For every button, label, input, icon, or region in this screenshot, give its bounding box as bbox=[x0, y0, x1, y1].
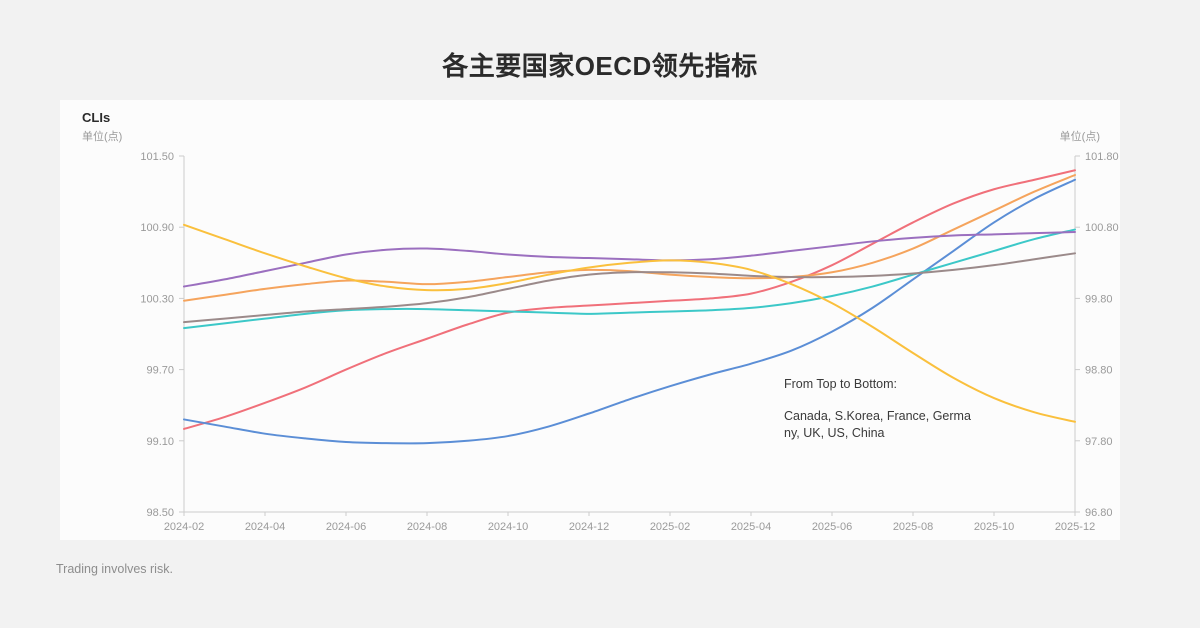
series-order-annotation: From Top to Bottom: Canada, S.Korea, Fra… bbox=[784, 376, 999, 441]
x-axis-tick-label: 2024-06 bbox=[326, 521, 366, 533]
right-axis-tick-label: 98.80 bbox=[1085, 365, 1113, 377]
x-axis-tick-label: 2025-08 bbox=[893, 521, 933, 533]
right-axis-tick-label: 101.80 bbox=[1085, 151, 1119, 163]
x-axis-tick-label: 2024-08 bbox=[407, 521, 447, 533]
annotation-heading: From Top to Bottom: bbox=[784, 376, 999, 392]
left-axis-tick-label: 99.70 bbox=[146, 365, 174, 377]
line-chart: 101.50100.90100.3099.7099.1098.50101.801… bbox=[60, 100, 1120, 540]
x-axis-tick-label: 2024-10 bbox=[488, 521, 528, 533]
disclaimer-text: Trading involves risk. bbox=[56, 562, 173, 576]
left-axis-tick-label: 101.50 bbox=[140, 151, 174, 163]
right-axis-tick-label: 97.80 bbox=[1085, 436, 1113, 448]
left-axis-tick-label: 98.50 bbox=[146, 507, 174, 519]
annotation-body-line-2: ny, UK, US, China bbox=[784, 425, 999, 441]
x-axis-tick-label: 2025-06 bbox=[812, 521, 852, 533]
x-axis-tick-label: 2024-12 bbox=[569, 521, 609, 533]
series-line-s-korea bbox=[184, 175, 1075, 301]
x-axis-tick-label: 2025-12 bbox=[1055, 521, 1095, 533]
right-axis-tick-label: 100.80 bbox=[1085, 222, 1119, 234]
x-axis-tick-label: 2024-04 bbox=[245, 521, 285, 533]
right-axis-tick-label: 96.80 bbox=[1085, 507, 1113, 519]
left-axis-tick-label: 100.30 bbox=[140, 293, 174, 305]
page-root: 各主要国家OECD领先指标 CLIs 单位(点) 单位(点) 101.50100… bbox=[0, 0, 1200, 628]
left-axis-tick-label: 99.10 bbox=[146, 436, 174, 448]
left-axis-tick-label: 100.90 bbox=[140, 222, 174, 234]
chart-card: CLIs 单位(点) 单位(点) 101.50100.90100.3099.70… bbox=[60, 100, 1120, 540]
x-axis-tick-label: 2025-04 bbox=[731, 521, 771, 533]
series-line-germany bbox=[184, 230, 1075, 329]
x-axis-tick-label: 2025-02 bbox=[650, 521, 690, 533]
annotation-body-line-1: Canada, S.Korea, France, Germa bbox=[784, 408, 999, 424]
x-axis-tick-label: 2025-10 bbox=[974, 521, 1014, 533]
page-title: 各主要国家OECD领先指标 bbox=[0, 46, 1200, 83]
x-axis-tick-label: 2024-02 bbox=[164, 521, 204, 533]
right-axis-tick-label: 99.80 bbox=[1085, 293, 1113, 305]
